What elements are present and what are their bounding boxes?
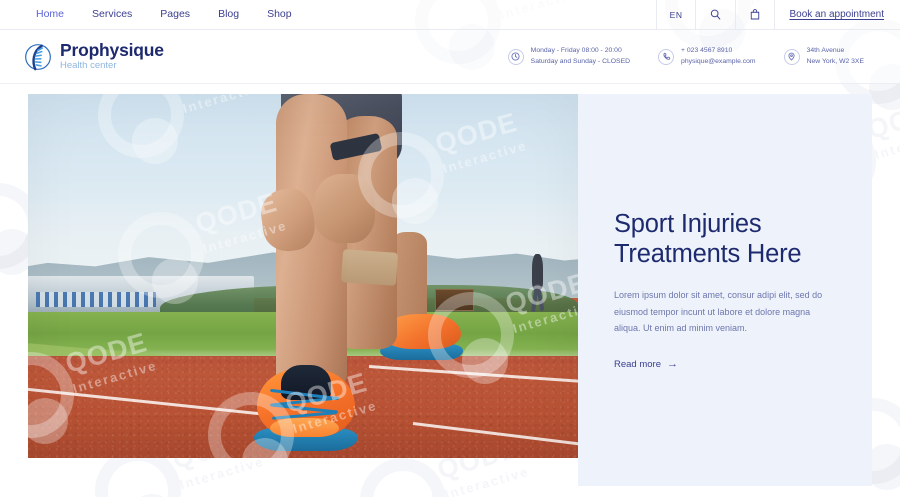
arrow-right-icon: → bbox=[667, 359, 678, 370]
spine-icon bbox=[24, 41, 52, 73]
hero-title-line-2: Treatments Here bbox=[614, 240, 801, 268]
brand-name: Prophysique bbox=[60, 41, 164, 59]
branding-info-bar: Prophysique Health center Monday - Frida… bbox=[0, 30, 900, 84]
phone-number[interactable]: + 023 4567 8910 bbox=[681, 47, 756, 55]
watermark: QODEInteractive bbox=[28, 344, 178, 458]
hours-weekday: Monday - Friday 08:00 - 20:00 bbox=[531, 47, 630, 55]
contact-info-group: Monday - Friday 08:00 - 20:00 Saturday a… bbox=[494, 47, 900, 66]
top-navigation-bar: Home Services Pages Blog Shop EN bbox=[0, 0, 900, 30]
top-bar-actions: EN Book an appointment bbox=[656, 0, 900, 30]
watermark: QODEInteractive bbox=[98, 94, 288, 184]
clock-icon bbox=[508, 49, 524, 65]
hero-title: Sport Injuries Treatments Here bbox=[614, 210, 842, 270]
hero-description: Lorem ipsum dolor sit amet, consur adipi… bbox=[614, 287, 829, 337]
site-logo[interactable]: Prophysique Health center bbox=[0, 41, 164, 73]
search-button[interactable] bbox=[695, 0, 735, 30]
contact-phone-email: + 023 4567 8910 physique@example.com bbox=[644, 47, 770, 66]
photo-knee-support bbox=[340, 249, 397, 286]
contact-hours: Monday - Friday 08:00 - 20:00 Saturday a… bbox=[494, 47, 644, 66]
hours-weekend: Saturday and Sunday - CLOSED bbox=[531, 58, 630, 66]
language-label: EN bbox=[670, 10, 683, 20]
watermark: QODEInteractive bbox=[118, 204, 308, 324]
watermark: QODEInteractive bbox=[208, 384, 398, 458]
nav-item-services[interactable]: Services bbox=[78, 0, 146, 29]
book-appointment-cell[interactable]: Book an appointment bbox=[774, 0, 900, 30]
address-city: New York, W2 3XE bbox=[807, 58, 864, 66]
nav-item-pages[interactable]: Pages bbox=[146, 0, 204, 29]
page-root: Home Services Pages Blog Shop EN bbox=[0, 0, 900, 497]
nav-item-blog[interactable]: Blog bbox=[204, 0, 253, 29]
main-menu: Home Services Pages Blog Shop bbox=[0, 0, 306, 29]
logo-text-block: Prophysique Health center bbox=[60, 41, 164, 72]
cart-button[interactable] bbox=[735, 0, 774, 30]
hero-title-line-1: Sport Injuries bbox=[614, 210, 761, 238]
hero-section: QODEInteractive QODEInteractive QODEInte… bbox=[28, 94, 872, 486]
email-address[interactable]: physique@example.com bbox=[681, 58, 756, 66]
language-switcher[interactable]: EN bbox=[656, 0, 696, 30]
hero-image: QODEInteractive QODEInteractive QODEInte… bbox=[28, 94, 578, 458]
book-appointment-link[interactable]: Book an appointment bbox=[789, 9, 884, 20]
watermark: QODEInteractive bbox=[428, 284, 578, 404]
search-icon bbox=[709, 8, 722, 21]
contact-phone-lines: + 023 4567 8910 physique@example.com bbox=[681, 47, 756, 66]
read-more-label: Read more bbox=[614, 359, 661, 370]
nav-item-shop[interactable]: Shop bbox=[253, 0, 306, 29]
map-pin-icon bbox=[784, 49, 800, 65]
shopping-bag-icon bbox=[749, 8, 761, 21]
watermark: QODEInteractive bbox=[358, 124, 548, 244]
contact-hours-lines: Monday - Friday 08:00 - 20:00 Saturday a… bbox=[531, 47, 630, 66]
nav-item-home[interactable]: Home bbox=[22, 0, 78, 29]
hero-content-panel: Sport Injuries Treatments Here Lorem ips… bbox=[578, 94, 872, 486]
contact-address-lines: 34th Avenue New York, W2 3XE bbox=[807, 47, 864, 66]
contact-address: 34th Avenue New York, W2 3XE bbox=[770, 47, 878, 66]
phone-icon bbox=[658, 49, 674, 65]
address-street: 34th Avenue bbox=[807, 47, 864, 55]
brand-tagline: Health center bbox=[60, 60, 164, 71]
read-more-button[interactable]: Read more → bbox=[614, 359, 678, 370]
